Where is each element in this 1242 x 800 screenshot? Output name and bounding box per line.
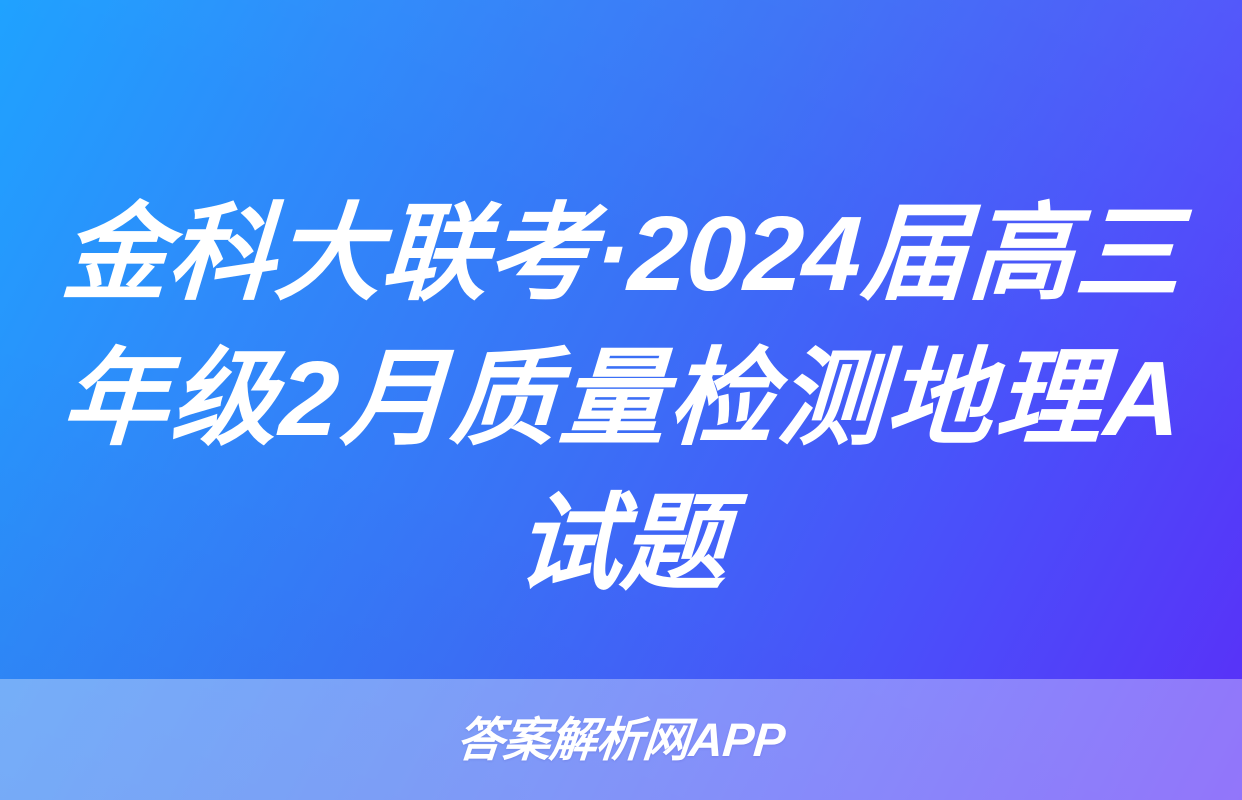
title-line-3: 试题 (58, 472, 1184, 617)
watermark-label: 答案解析网APP (455, 716, 787, 763)
title-block: 金科大联考·2024届高三 年级2月质量检测地理A 试题 (0, 182, 1242, 617)
watermark-band: 答案解析网APP (0, 679, 1242, 800)
title-line-1: 金科大联考·2024届高三 (58, 182, 1184, 327)
exam-cover-banner: 金科大联考·2024届高三 年级2月质量检测地理A 试题 答案解析网APP (0, 0, 1242, 800)
title-line-2: 年级2月质量检测地理A (58, 327, 1184, 472)
